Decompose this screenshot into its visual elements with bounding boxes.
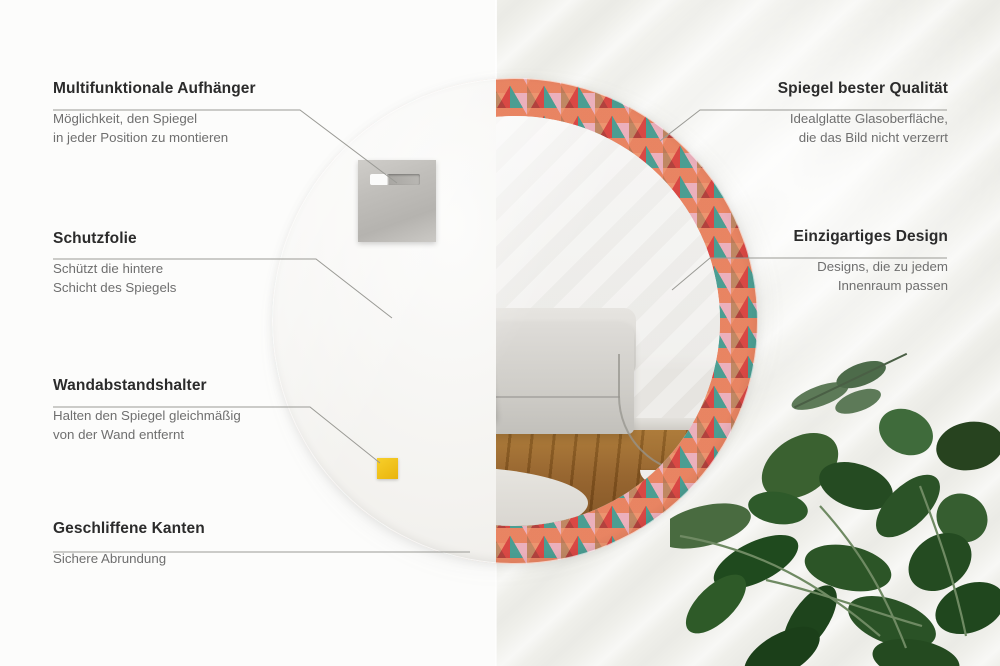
hanger-plate bbox=[358, 160, 436, 242]
callout-description: Möglichkeit, den Spiegel in jeder Positi… bbox=[53, 110, 256, 148]
callout-title: Spiegel bester Qualität bbox=[778, 80, 948, 98]
callout-geschliffene-kanten: Geschliffene Kanten Sichere Abrundung bbox=[53, 520, 205, 569]
callout-description: Schützt die hintere Schicht des Spiegels bbox=[53, 260, 176, 298]
callout-title: Multifunktionale Aufhänger bbox=[53, 80, 256, 98]
yellow-spacer bbox=[377, 458, 398, 479]
callout-spiegel-bester-qualitaet: Spiegel bester Qualität Idealglatte Glas… bbox=[778, 80, 948, 148]
keyhole-slot-icon bbox=[370, 174, 420, 185]
callout-title: Schutzfolie bbox=[53, 230, 176, 248]
callout-title: Geschliffene Kanten bbox=[53, 520, 205, 538]
callout-description: Halten den Spiegel gleichmäßig von der W… bbox=[53, 407, 241, 445]
callout-wandabstandshalter: Wandabstandshalter Halten den Spiegel gl… bbox=[53, 377, 241, 445]
callout-title: Wandabstandshalter bbox=[53, 377, 241, 395]
callout-description: Idealglatte Glasoberfläche, die das Bild… bbox=[778, 110, 948, 148]
mirror-back-half bbox=[272, 78, 496, 564]
infographic-canvas: Multifunktionale Aufhänger Möglichkeit, … bbox=[0, 0, 1000, 666]
callout-multifunktionale-aufhaenger: Multifunktionale Aufhänger Möglichkeit, … bbox=[53, 80, 256, 148]
callout-title: Einzigartiges Design bbox=[794, 228, 948, 246]
callout-description: Designs, die zu jedem Innenraum passen bbox=[794, 258, 948, 296]
callout-description: Sichere Abrundung bbox=[53, 550, 205, 569]
callout-schutzfolie: Schutzfolie Schützt die hintere Schicht … bbox=[53, 230, 176, 298]
callout-einzigartiges-design: Einzigartiges Design Designs, die zu jed… bbox=[794, 228, 948, 296]
foliage-decoration bbox=[670, 336, 1000, 666]
